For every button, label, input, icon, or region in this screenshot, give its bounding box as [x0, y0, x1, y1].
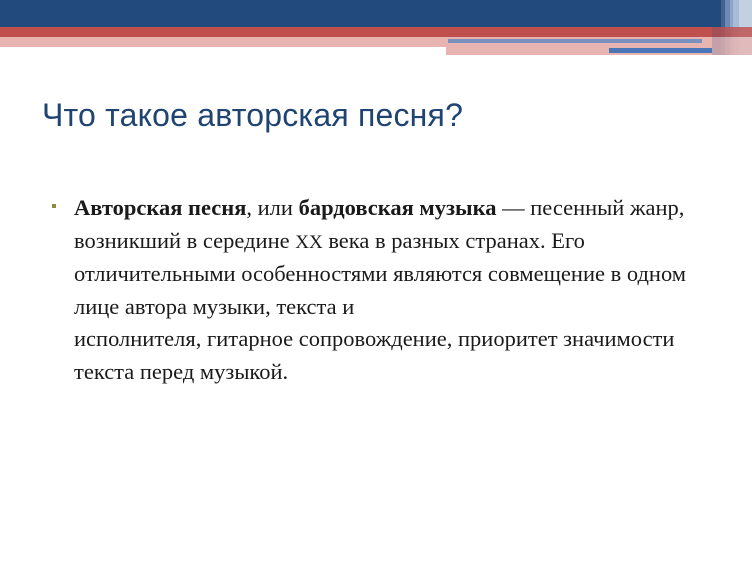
list-item: Авторская песня, или бардовская музыка —… [44, 192, 704, 389]
page-title: Что такое авторская песня? [42, 97, 710, 134]
header-navy-band [0, 0, 752, 27]
header-red-band [0, 27, 752, 37]
slide-header-decoration [0, 0, 752, 60]
header-edge-stripes [712, 0, 752, 55]
bullet-paragraph: Авторская песня, или бардовская музыка —… [74, 195, 686, 384]
header-pink-band-left [0, 37, 446, 47]
header-light-blue-line [448, 39, 702, 43]
content-bullet-list: Авторская песня, или бардовская музыка —… [44, 192, 704, 389]
bullet-square-icon [52, 204, 56, 208]
